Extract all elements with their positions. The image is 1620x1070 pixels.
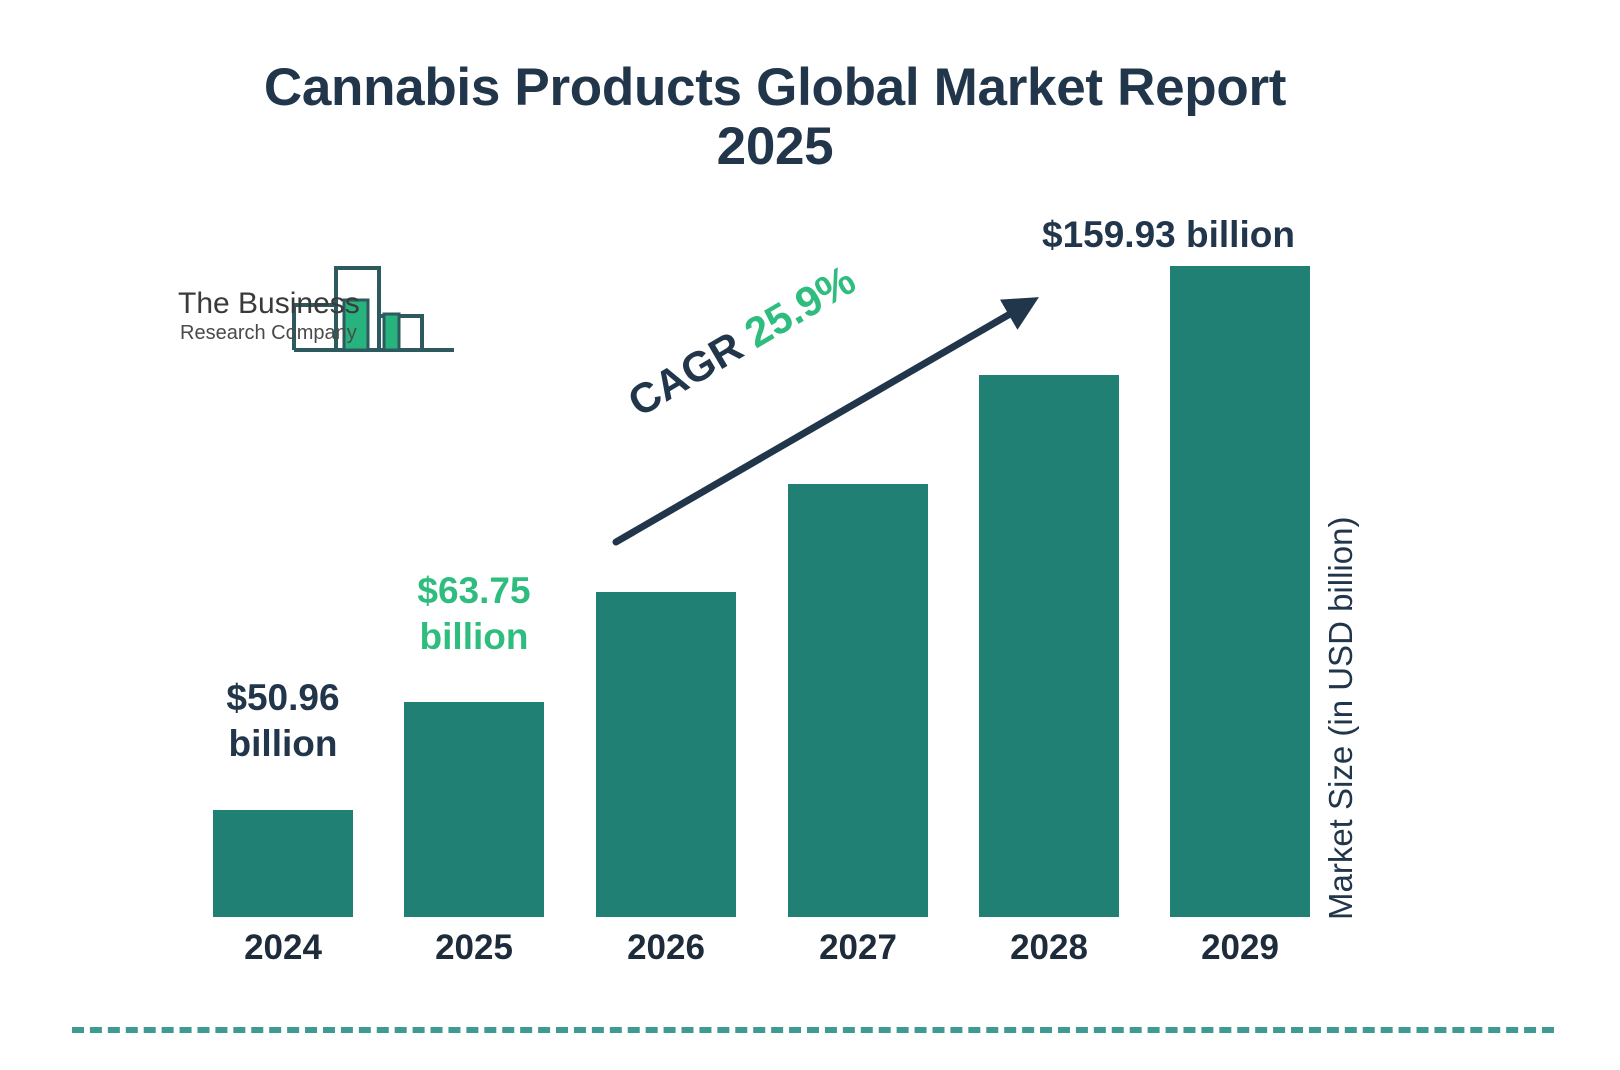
value-label-2024-line-2: billion <box>183 721 383 767</box>
y-axis-label: Market Size (in USD billion) <box>1322 517 1360 920</box>
cagr-word: CAGR <box>620 322 750 425</box>
xtick-2027: 2027 <box>788 928 928 968</box>
bar-2024 <box>213 810 353 917</box>
cagr-value: 25.9% <box>737 256 863 357</box>
xtick-2029: 2029 <box>1170 928 1310 968</box>
value-label-2025-line-2: billion <box>374 614 574 660</box>
value-label-2024: $50.96 billion <box>183 675 383 768</box>
bar-2025 <box>404 702 544 917</box>
xtick-2026: 2026 <box>596 928 736 968</box>
bar-2026 <box>596 592 736 917</box>
chart-canvas: Cannabis Products Global Market Report 2… <box>0 0 1620 1070</box>
value-label-2025-line-1: $63.75 <box>374 568 574 614</box>
value-label-2024-line-1: $50.96 <box>183 675 383 721</box>
xtick-2025: 2025 <box>404 928 544 968</box>
cagr-label: CAGR 25.9% <box>620 256 864 426</box>
bar-2028 <box>979 375 1119 917</box>
bar-2029 <box>1170 266 1310 917</box>
xtick-2028: 2028 <box>979 928 1119 968</box>
xtick-2024: 2024 <box>213 928 353 968</box>
value-label-2029: $159.93 billion <box>1042 214 1295 256</box>
plot-area: 2024 2025 2026 2027 2028 2029 $50.96 bil… <box>0 0 1620 1070</box>
bar-2027 <box>788 484 928 917</box>
bottom-divider <box>72 1027 1554 1033</box>
value-label-2025: $63.75 billion <box>374 568 574 661</box>
